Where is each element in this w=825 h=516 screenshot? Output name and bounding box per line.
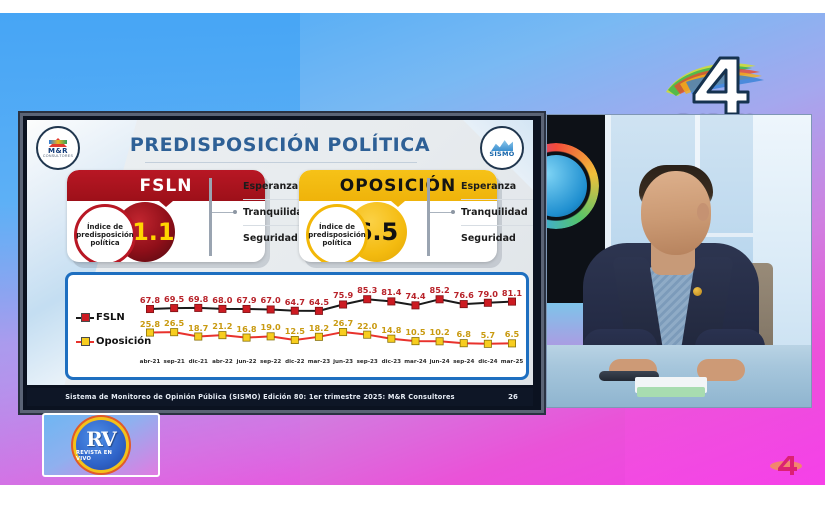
data-label: 12.5 <box>285 326 305 336</box>
chart-legend: FSLN Oposición <box>76 305 138 353</box>
slide-canvas: M&R CONSULTORES SISMO PREDISPOSICIÓN POL… <box>27 120 533 385</box>
data-label: 67.0 <box>261 295 281 305</box>
x-axis-tick-label: abr-22 <box>212 359 233 365</box>
data-label: 5.7 <box>481 330 496 340</box>
data-label: 64.7 <box>285 297 305 307</box>
metric-row-esperanza-oposicion: Esperanza 6.6% <box>461 174 533 200</box>
data-label: 18.7 <box>188 323 208 333</box>
x-axis-tick-label: abr-21 <box>140 359 161 365</box>
x-axis-tick-label: jun-22 <box>237 359 257 365</box>
metric-row-tranquilidad-oposicion: Tranquilidad 6.6% <box>461 200 533 226</box>
card-body: FSLN 81.1 Índice de predisposición polít… <box>67 170 265 262</box>
card-header-fsln: FSLN <box>67 170 265 201</box>
metric-label: Tranquilidad <box>461 207 528 218</box>
metrics-bar <box>209 178 212 256</box>
data-label: 85.2 <box>429 285 449 295</box>
x-axis-tick-label: mar-23 <box>308 359 330 365</box>
data-label: 69.5 <box>164 294 184 304</box>
broadcast-screen: 7:47 AM <box>0 0 825 516</box>
data-label: 76.6 <box>454 290 474 300</box>
index-caption-circle-fsln: Índice de predisposición política <box>74 204 136 262</box>
guest-ear <box>697 203 709 221</box>
slide-footer-source: Sistema de Monitoreo de Opinión Pública … <box>27 393 493 401</box>
slide-page-number: 26 <box>493 393 533 401</box>
data-label: 67.9 <box>236 295 256 305</box>
metric-label: Seguridad <box>461 233 516 244</box>
data-label: 16.8 <box>236 324 256 334</box>
data-label: 26.7 <box>333 318 353 328</box>
slide-title: PREDISPOSICIÓN POLÍTICA <box>27 134 533 156</box>
data-label: 18.2 <box>309 323 329 333</box>
top-white-bar <box>0 0 825 14</box>
x-axis-tick-label: mar-24 <box>404 359 426 365</box>
data-label: 14.8 <box>381 325 401 335</box>
data-label: 75.9 <box>333 290 353 300</box>
data-label: 81.1 <box>502 288 522 298</box>
metric-label: Seguridad <box>243 233 298 244</box>
program-bug-rv: RV REVISTA EN VIVO <box>42 413 160 477</box>
x-axis-tick-label: dic-23 <box>382 359 401 365</box>
data-label: 79.0 <box>478 289 498 299</box>
data-label: 10.2 <box>429 327 449 337</box>
channel-4-watermark <box>769 454 803 476</box>
x-axis-tick-label: jun-23 <box>333 359 353 365</box>
data-label: 19.0 <box>261 322 281 332</box>
notebook-on-desk <box>637 387 705 397</box>
data-label: 64.5 <box>309 297 329 307</box>
rv-subtitle: REVISTA EN VIVO <box>76 450 126 462</box>
trend-chart: FSLN Oposición 67.869.569.868.067.967.06… <box>65 272 529 380</box>
chart-plot-area: 67.869.569.868.067.967.064.764.575.985.3… <box>140 277 522 377</box>
data-label: 10.5 <box>405 327 425 337</box>
rv-logo-circle: RV REVISTA EN VIVO <box>76 420 126 470</box>
legend-marker-oposicion-icon <box>76 337 94 346</box>
x-axis-tick-label: jun-24 <box>430 359 450 365</box>
metrics-connector <box>430 212 452 213</box>
data-label: 21.2 <box>212 321 232 331</box>
data-label: 85.3 <box>357 285 377 295</box>
x-axis-tick-label: sep-22 <box>260 359 281 365</box>
bottom-white-bar <box>0 485 825 516</box>
data-label: 67.8 <box>140 295 160 305</box>
x-axis-tick-label: dic-21 <box>189 359 208 365</box>
x-axis-tick-label: sep-21 <box>164 359 185 365</box>
data-label: 74.4 <box>405 291 425 301</box>
data-label: 68.0 <box>212 295 232 305</box>
metrics-connector <box>212 212 234 213</box>
slide-footer: Sistema de Monitoreo de Opinión Pública … <box>27 388 533 406</box>
data-label: 69.8 <box>188 294 208 304</box>
presentation-slide: M&R CONSULTORES SISMO PREDISPOSICIÓN POL… <box>20 113 544 413</box>
legend-label-fsln: FSLN <box>96 312 125 323</box>
data-label: 81.4 <box>381 287 401 297</box>
x-axis-tick-label: dic-24 <box>478 359 497 365</box>
data-label: 25.8 <box>140 319 160 329</box>
studio-video-feed <box>546 114 812 408</box>
x-axis-tick-label: mar-25 <box>501 359 523 365</box>
studio-desk <box>547 345 811 407</box>
index-caption-fsln: Índice de predisposición política <box>72 223 138 248</box>
legend-marker-fsln-icon <box>76 313 94 322</box>
data-label: 26.5 <box>164 318 184 328</box>
data-label: 6.8 <box>456 329 471 339</box>
party-card-fsln: FSLN 81.1 Índice de predisposición polít… <box>67 170 272 268</box>
data-label: 22.0 <box>357 321 377 331</box>
metric-row-seguridad-oposicion: Seguridad 6.3% <box>461 226 533 251</box>
data-label: 6.5 <box>505 329 520 339</box>
legend-item-oposicion: Oposición <box>76 329 138 353</box>
x-axis-tick-label: sep-23 <box>357 359 378 365</box>
x-axis-tick-label: dic-22 <box>285 359 304 365</box>
index-caption-circle-oposicion: Índice de predisposición política <box>306 204 368 262</box>
legend-item-fsln: FSLN <box>76 305 138 329</box>
index-caption-oposicion: Índice de predisposición política <box>304 223 370 248</box>
metrics-bar <box>427 178 430 256</box>
title-divider <box>145 162 417 163</box>
metric-label: Esperanza <box>461 181 516 192</box>
guest-lapel-pin <box>693 287 702 296</box>
rv-initials: RV <box>86 429 115 449</box>
x-axis-tick-label: sep-24 <box>453 359 474 365</box>
channel-4-logo <box>660 52 770 118</box>
metric-label: Esperanza <box>243 181 298 192</box>
